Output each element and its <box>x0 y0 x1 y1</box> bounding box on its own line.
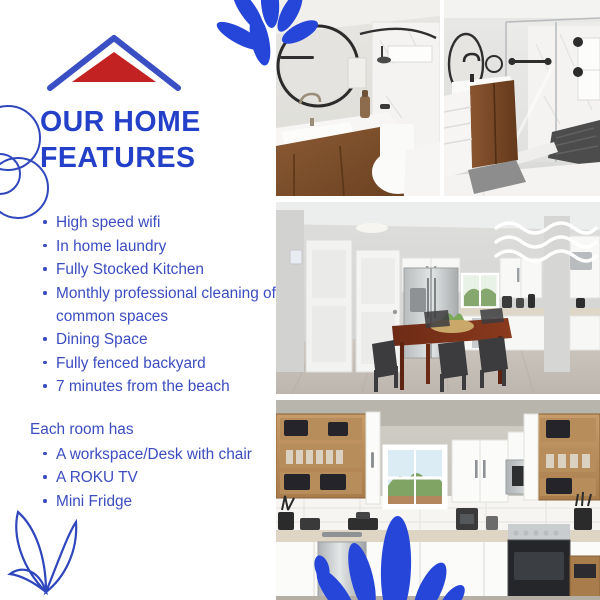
poster-canvas: OUR HOME FEATURES High speed wifiIn home… <box>0 0 600 600</box>
content-panel: OUR HOME FEATURES High speed wifiIn home… <box>0 0 276 600</box>
title-line-1: OUR HOME <box>40 104 270 140</box>
features-section: High speed wifiIn home laundryFully Stoc… <box>30 212 278 515</box>
feature-list-item: Dining Space <box>56 329 278 352</box>
feature-list-item: In home laundry <box>56 236 278 259</box>
feature-list-item: Fully fenced backyard <box>56 353 278 376</box>
page-title: OUR HOME FEATURES <box>40 104 270 177</box>
feature-list-item: Fully Stocked Kitchen <box>56 259 278 282</box>
room-feature-list-item: A workspace/Desk with chair <box>56 444 278 467</box>
feature-list-item: Monthly professional cleaning of common … <box>56 283 278 328</box>
photo-bathroom-tub <box>276 0 440 196</box>
room-feature-list: A workspace/Desk with chairA ROKU TVMini… <box>30 444 278 514</box>
photo-kitchen-range <box>270 400 600 600</box>
title-line-2: FEATURES <box>40 140 270 176</box>
feature-list-item: High speed wifi <box>56 212 278 235</box>
photo-kitchen-dining <box>276 202 600 394</box>
feature-list-item: 7 minutes from the beach <box>56 376 278 399</box>
room-feature-list-item: Mini Fridge <box>56 491 278 514</box>
house-roof-icon <box>44 32 184 94</box>
room-feature-list-item: A ROKU TV <box>56 467 278 490</box>
primary-feature-list: High speed wifiIn home laundryFully Stoc… <box>30 212 278 399</box>
photo-grid <box>276 0 600 600</box>
photo-bathroom-shower <box>444 0 600 196</box>
section-lead-each-room: Each room has <box>30 419 278 442</box>
